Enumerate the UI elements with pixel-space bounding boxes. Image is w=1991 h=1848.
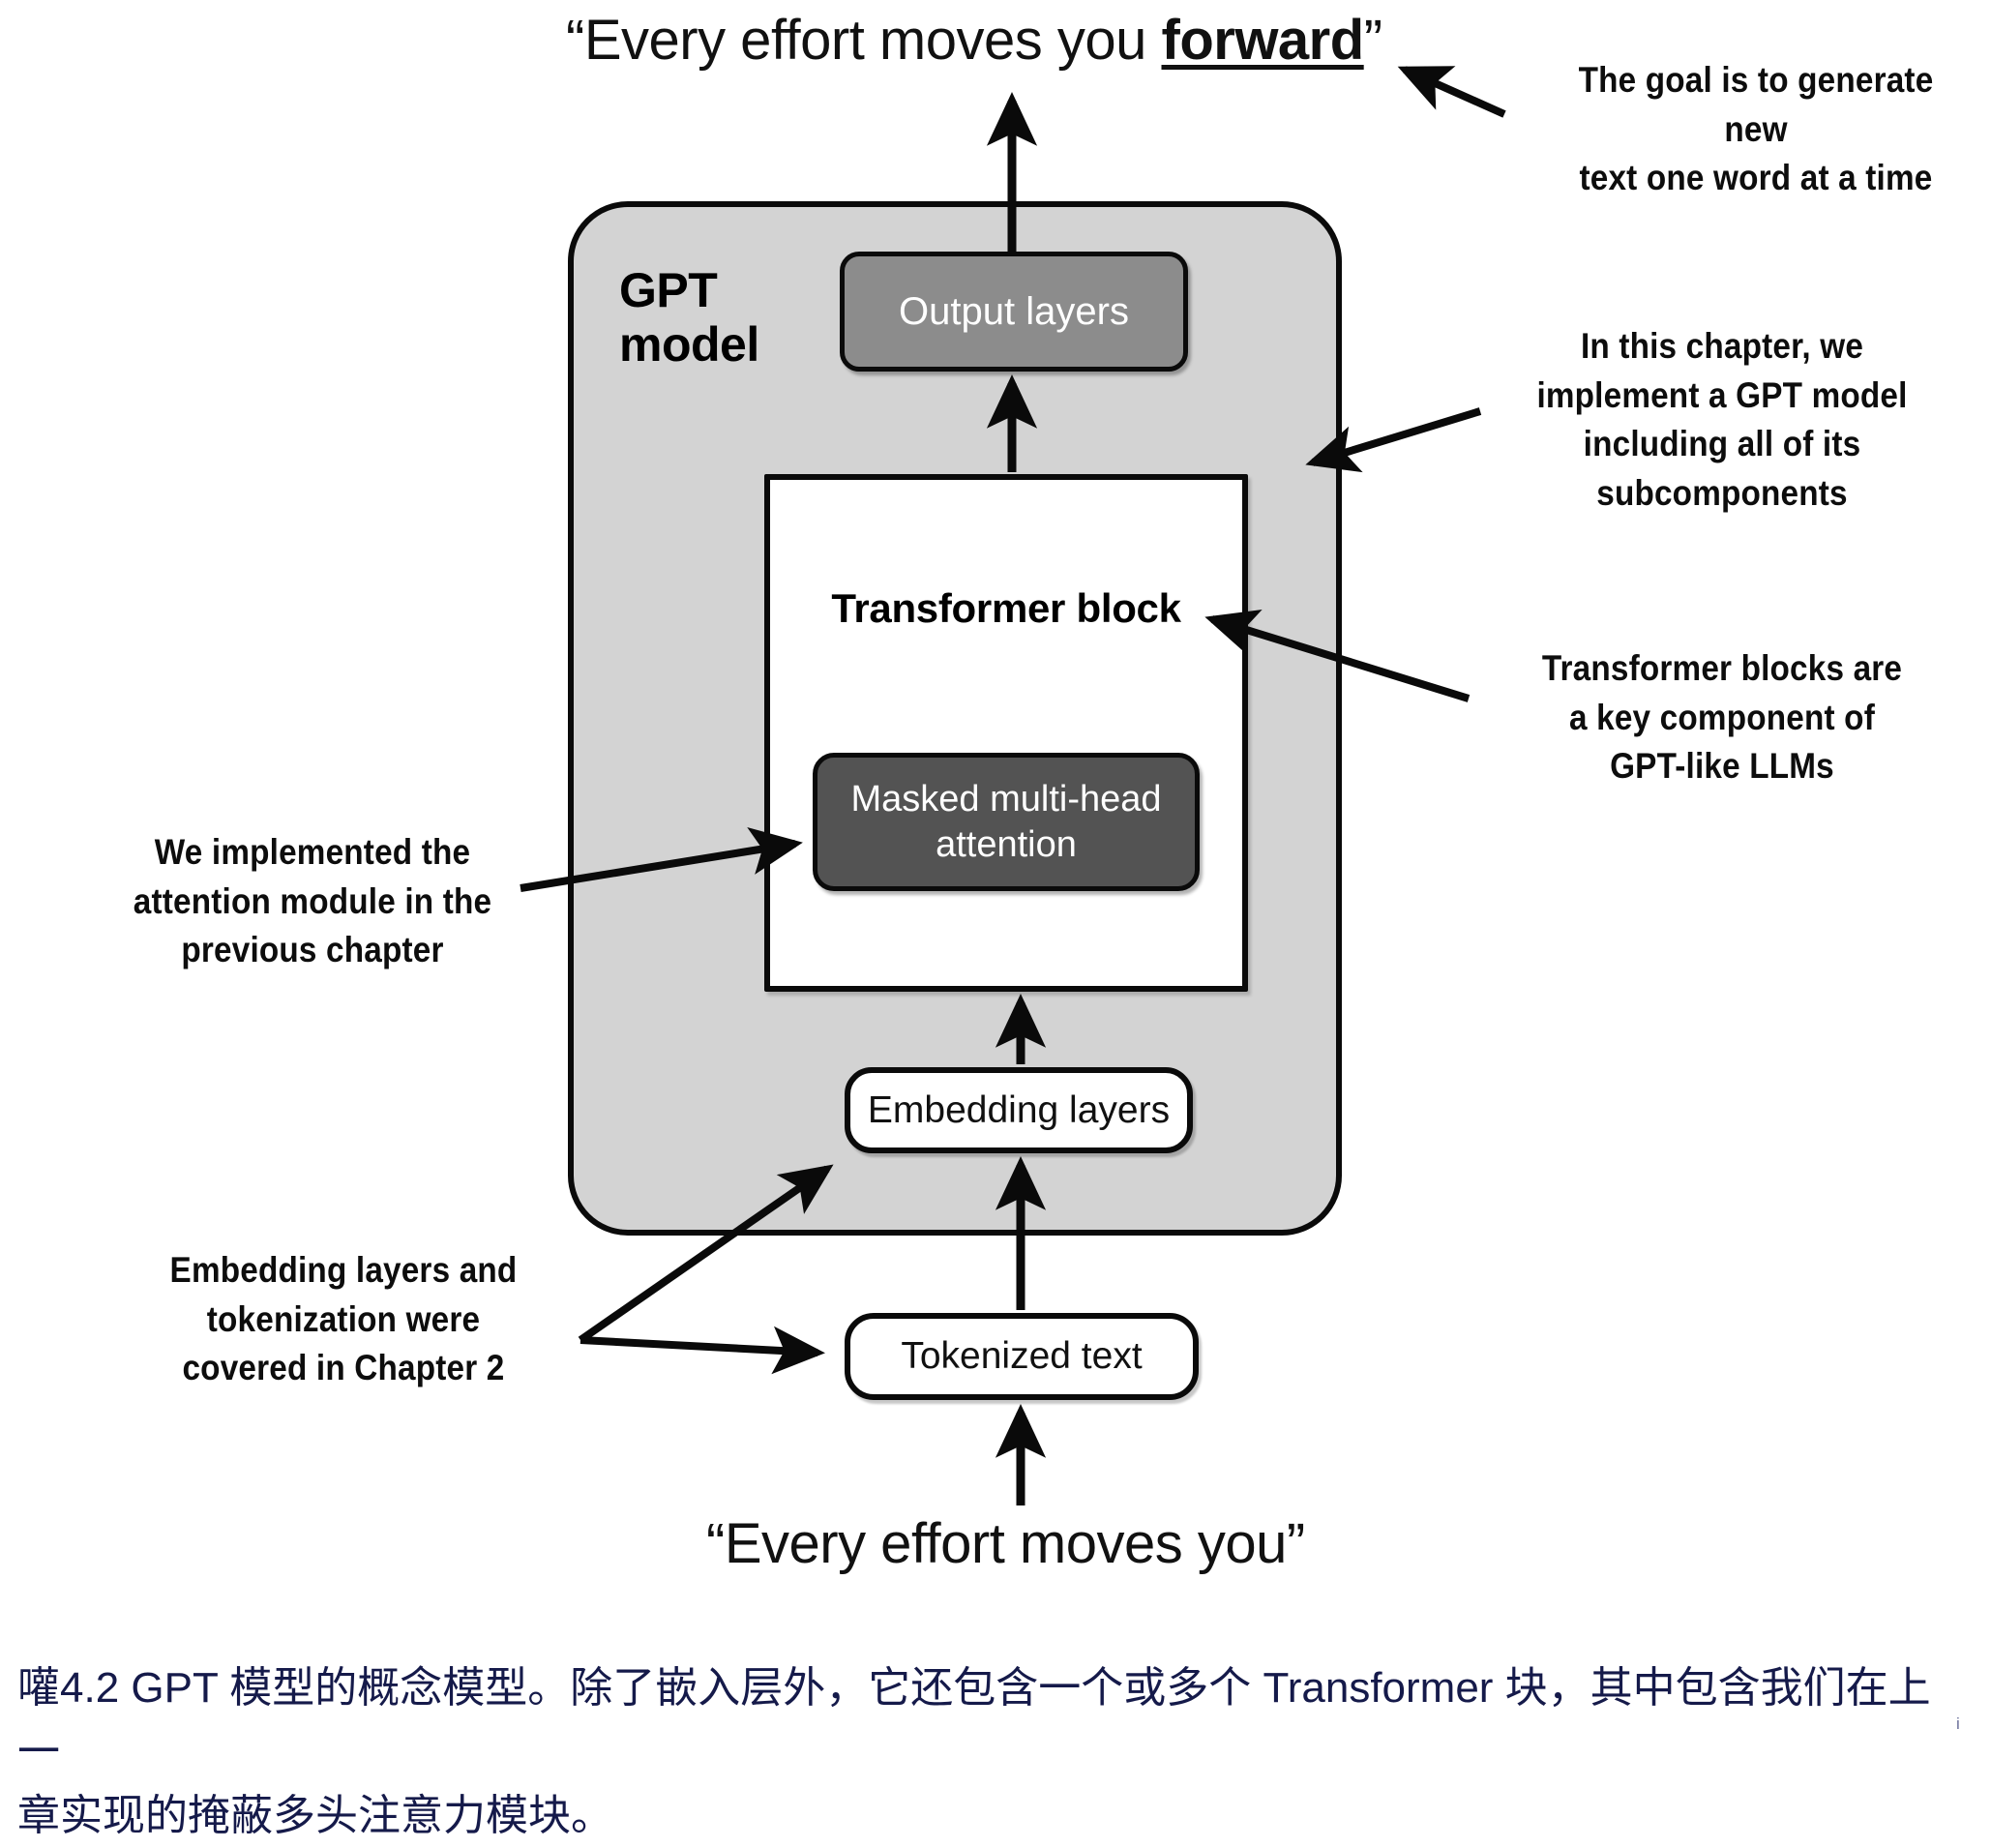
arrow-note-embedding-2 — [580, 1340, 817, 1353]
gpt-model-label-line2: model — [619, 317, 842, 372]
transformer-block-node[interactable] — [764, 474, 1248, 992]
note-embedding-line2: tokenization were — [139, 1296, 549, 1345]
output-layers-node[interactable]: Output layers — [840, 252, 1188, 372]
figure-caption-line1: 嚾4.2 GPT 模型的概念模型。除了嵌入层外，它还包含一个或多个 Transf… — [17, 1656, 1972, 1784]
note-blocks-line3: GPT-like LLMs — [1513, 742, 1931, 791]
transformer-block-label: Transformer block — [764, 585, 1248, 632]
figure-caption-line2: 章实现的掩蔽多头注意力模块。 — [17, 1784, 1972, 1848]
embedding-layers-label: Embedding layers — [868, 1089, 1170, 1132]
note-blocks-line1: Transformer blocks are — [1513, 644, 1931, 694]
output-layers-label: Output layers — [899, 290, 1129, 334]
note-attention-line3: previous chapter — [100, 926, 526, 975]
gpt-model-label: GPT model — [619, 263, 842, 372]
note-chapter-line1: In this chapter, we — [1513, 322, 1931, 372]
arrow-note-goal — [1405, 70, 1504, 114]
note-chapter: In this chapter, we implement a GPT mode… — [1513, 322, 1931, 519]
note-embedding: Embedding layers and tokenization were c… — [139, 1246, 549, 1393]
output-text-suffix: ” — [1364, 9, 1382, 72]
note-embedding-line3: covered in Chapter 2 — [139, 1344, 549, 1393]
gpt-model-label-line1: GPT — [619, 263, 842, 317]
input-text-quote: “Every effort moves you” — [706, 1511, 1305, 1576]
note-chapter-line4: subcomponents — [1513, 469, 1931, 519]
note-blocks: Transformer blocks are a key component o… — [1513, 644, 1931, 791]
masked-attention-label-line1: Masked multi-head — [850, 777, 1161, 821]
note-attention-line2: attention module in the — [100, 878, 526, 927]
note-goal-line2: text one word at a time — [1552, 154, 1961, 203]
note-goal-line1: The goal is to generate new — [1552, 56, 1961, 154]
output-text-prefix: “Every effort moves you — [566, 9, 1162, 72]
note-attention-line1: We implemented the — [100, 828, 526, 878]
note-goal: The goal is to generate new text one wor… — [1552, 56, 1961, 203]
output-text-quote: “Every effort moves you forward” — [566, 8, 1382, 73]
page-number: i — [1956, 1714, 1960, 1734]
masked-multi-head-attention-node[interactable]: Masked multi-head attention — [813, 753, 1200, 891]
masked-attention-label-line2: attention — [850, 822, 1161, 867]
output-text-bold: forward — [1162, 9, 1364, 72]
note-chapter-line3: including all of its — [1513, 420, 1931, 469]
figure-caption: 嚾4.2 GPT 模型的概念模型。除了嵌入层外，它还包含一个或多个 Transf… — [17, 1656, 1972, 1848]
tokenized-text-node[interactable]: Tokenized text — [845, 1313, 1199, 1400]
note-embedding-line1: Embedding layers and — [139, 1246, 549, 1296]
embedding-layers-node[interactable]: Embedding layers — [845, 1067, 1193, 1153]
tokenized-text-label: Tokenized text — [901, 1335, 1142, 1378]
note-attention: We implemented the attention module in t… — [100, 828, 526, 975]
note-chapter-line2: implement a GPT model — [1513, 372, 1931, 421]
note-blocks-line2: a key component of — [1513, 694, 1931, 743]
